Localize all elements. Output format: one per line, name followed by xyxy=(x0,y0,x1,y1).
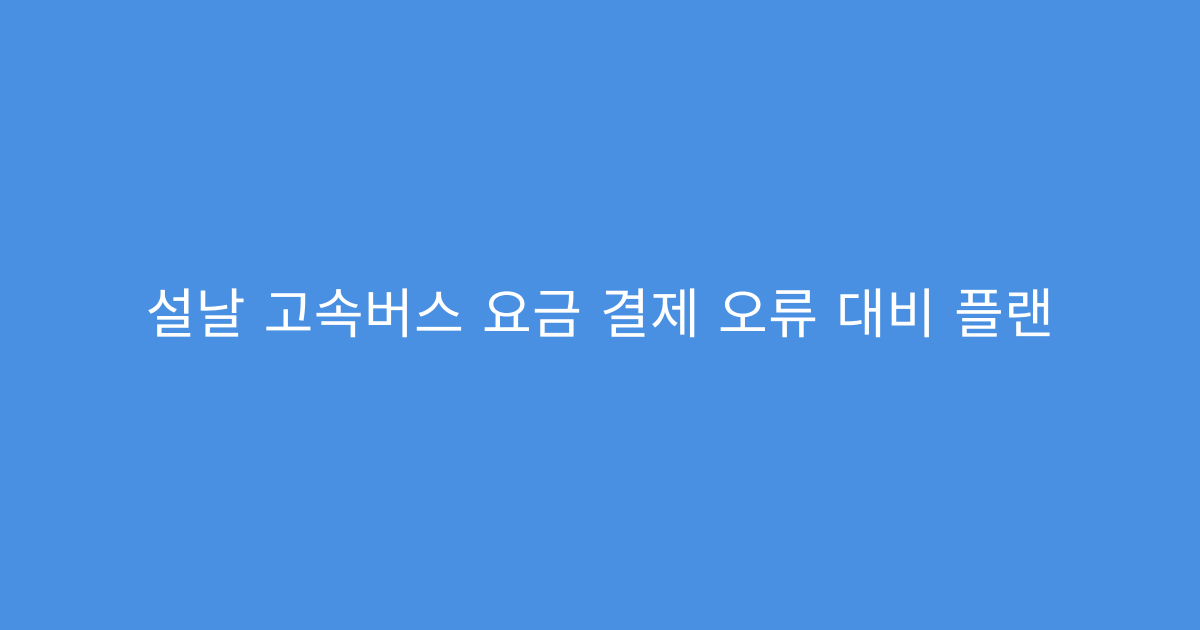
page-title: 설날 고속버스 요금 결제 오류 대비 플랜 xyxy=(146,281,1055,349)
headline-container: 설날 고속버스 요금 결제 오류 대비 플랜 xyxy=(50,281,1150,349)
share-card: 설날 고속버스 요금 결제 오류 대비 플랜 xyxy=(0,0,1200,630)
